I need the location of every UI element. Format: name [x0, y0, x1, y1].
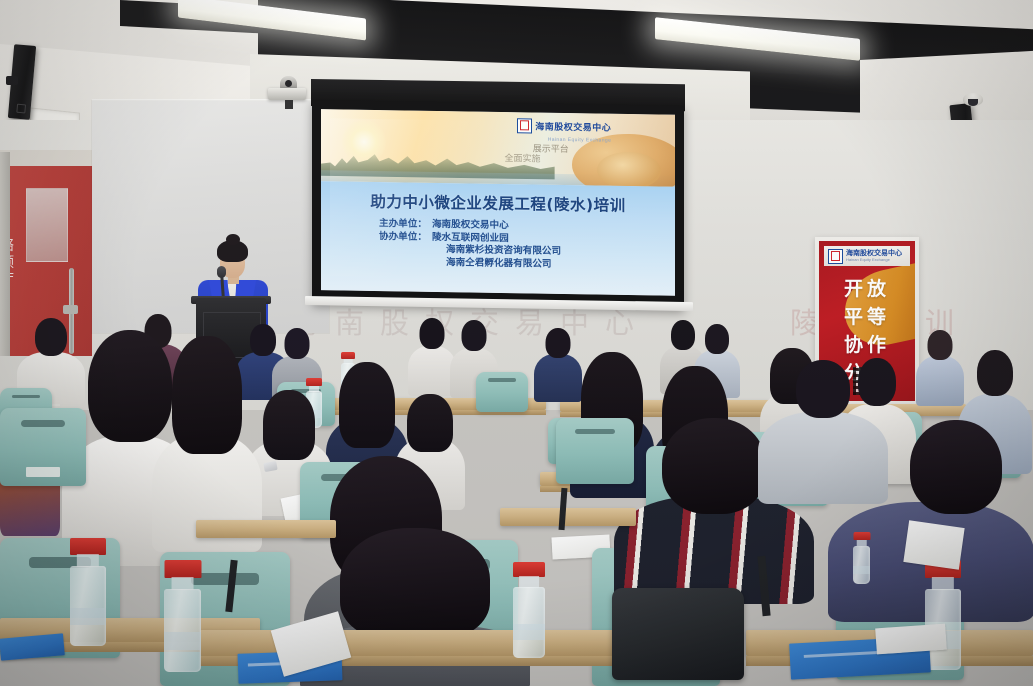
dome-camera-icon — [963, 93, 983, 106]
conference-room-photo: 海南股权交易中心 陵水培训 络 颂厅 海南股权交易中心 Hainan Equit… — [0, 0, 1033, 686]
ptz-camera-mount — [285, 100, 293, 109]
attendee — [916, 328, 964, 402]
paper-sheet — [875, 624, 947, 655]
slide-title: 助力中小微企业发展工程(陵水)培训 — [321, 192, 675, 218]
attendee-head — [671, 320, 695, 350]
water-bottle — [164, 560, 201, 672]
organizer-label: 主办单位： — [379, 218, 427, 231]
attendee-head — [928, 330, 953, 360]
chair — [476, 372, 528, 412]
attendee-hair — [263, 390, 315, 460]
banner-disc-graphic-small — [597, 151, 661, 187]
bottle-label — [513, 624, 545, 640]
water-bottle — [513, 562, 545, 658]
slide-header-banner: 海南股权交易中心 Hainan Equity Exchange 展示平台 全面实… — [321, 109, 675, 187]
attendee-head — [340, 528, 490, 640]
rollup-logo-text: 海南股权交易中心 Hainan Equity Exchange — [846, 250, 902, 262]
attendee-head — [462, 320, 487, 351]
exchange-logo-icon — [517, 118, 532, 133]
desk — [196, 520, 336, 538]
rollup-slogan-line: 开放 — [819, 275, 915, 303]
bottle-body — [853, 546, 870, 584]
rollup-logo-en: Hainan Equity Exchange — [846, 258, 902, 262]
presentation-slide: 海南股权交易中心 Hainan Equity Exchange 展示平台 全面实… — [321, 109, 675, 296]
attendee — [152, 336, 262, 546]
organizer-value: 海南股权交易中心 — [432, 219, 509, 233]
microphone-icon — [217, 266, 226, 278]
bottle-body — [164, 589, 201, 672]
organizer-label: 协办单位： — [379, 231, 427, 244]
water-bottle — [70, 538, 106, 646]
rollup-logo-cn: 海南股权交易中心 — [846, 250, 902, 257]
banner-sun-graphic — [342, 120, 386, 165]
paper-sheet — [903, 520, 964, 569]
organizer-value: 海南仝君孵化器有限公司 — [446, 257, 552, 271]
slide-organizer-list: 主办单位：海南股权交易中心 协办单位：陵水互联网创业园 海南紫杉投资咨询有限公司… — [379, 218, 675, 272]
ptz-camera-base — [268, 88, 306, 100]
slide-logo-text-cn: 海南股权交易中心 — [535, 119, 611, 133]
attendee-torso — [408, 346, 456, 396]
attendee-head — [662, 418, 766, 514]
bottle-body — [513, 587, 545, 658]
bottle-body — [70, 566, 106, 646]
attendee-head — [546, 328, 571, 358]
chair-label — [26, 467, 60, 476]
backpack — [612, 588, 744, 680]
attendee-torso — [916, 356, 964, 406]
slide-body: 助力中小微企业发展工程(陵水)培训 主办单位：海南股权交易中心 协办单位：陵水互… — [321, 182, 675, 296]
attendee — [758, 358, 888, 498]
rollup-slogan-line: 协作 — [819, 331, 915, 359]
attendee-hair — [172, 336, 242, 454]
attendee-head — [705, 324, 729, 354]
bottle-cap — [70, 538, 106, 555]
desk — [500, 508, 636, 526]
presenter-hair-bun — [226, 234, 240, 245]
exchange-logo-icon — [828, 249, 843, 264]
bottle-cap — [164, 560, 201, 578]
slide-logo: 海南股权交易中心 Hainan Equity Exchange — [517, 118, 611, 134]
attendee-head — [910, 420, 1002, 514]
attendee-hair — [339, 362, 395, 448]
attendee-torso — [758, 412, 888, 504]
door-lock-icon — [63, 305, 78, 314]
bottle-neck — [932, 577, 954, 590]
projection-screen: 海南股权交易中心 Hainan Equity Exchange 展示平台 全面实… — [312, 100, 684, 310]
water-bottle — [925, 560, 961, 670]
attendee-hair — [407, 394, 453, 452]
slide-banner-subtext-2: 全面实施 — [504, 151, 540, 165]
wall-frame-left — [0, 152, 10, 356]
water-bottle — [853, 532, 870, 584]
bottle-cap — [513, 562, 545, 577]
attendee — [408, 316, 456, 390]
attendee-head — [796, 360, 850, 418]
bottle-label — [164, 632, 201, 650]
rollup-slogan-line: 平等 — [819, 303, 915, 331]
organizer-value: 陵水互联网创业园 — [432, 232, 509, 246]
attendee-head — [977, 350, 1013, 396]
bottle-label — [853, 566, 870, 574]
bottle-label — [70, 608, 106, 626]
chair — [0, 408, 86, 486]
attendee-head — [285, 328, 310, 359]
rollup-logo-bar: 海南股权交易中心 Hainan Equity Exchange — [824, 246, 910, 266]
door-glass-panel — [26, 188, 68, 262]
speaker-mount — [6, 76, 18, 85]
attendee-head — [420, 318, 445, 349]
